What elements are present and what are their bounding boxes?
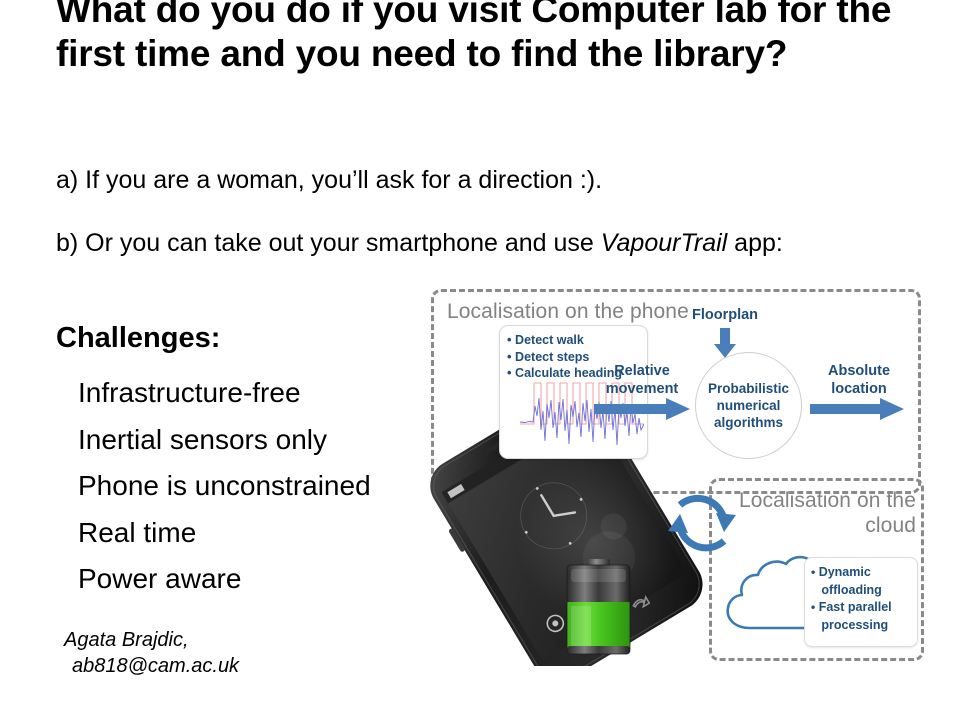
slide-canvas: What do you do if you visit Computer lab…	[0, 0, 960, 720]
author-email: ab818@cam.ac.uk	[72, 653, 239, 679]
list-item: Real time	[78, 510, 371, 557]
localisation-on-phone-label: Localisation on the phone	[447, 299, 689, 324]
node-label-line2: numerical	[717, 398, 781, 413]
answer-b-suffix: app:	[727, 229, 783, 257]
bullet-dot-icon: •	[507, 349, 512, 364]
localisation-on-cloud-label: Localisation on the cloud	[726, 488, 916, 538]
relative-movement-label: Relativemovement	[594, 362, 690, 398]
author-block: Agata Brajdic, ab818@cam.ac.uk	[64, 627, 239, 679]
page-title: What do you do if you visit Computer lab…	[56, 0, 916, 76]
list-item-label: processing	[821, 618, 888, 632]
vapourtrail-architecture-diagram: Localisation on the phone Localisation o…	[414, 276, 960, 676]
bullet-dot-icon: •	[507, 332, 512, 347]
cloud-features-card: • Dynamic offloading • Fast parallel pro…	[804, 557, 918, 647]
app-name: VapourTrail	[601, 229, 727, 257]
list-item: • Dynamic	[811, 564, 892, 582]
node-label-line3: algorithms	[714, 415, 783, 430]
list-item-continuation: processing	[811, 617, 892, 635]
battery-icon	[561, 558, 636, 658]
relative-movement-line1: Relative	[614, 363, 670, 379]
list-item-label: Fast parallel	[819, 600, 892, 614]
author-name: Agata Brajdic,	[64, 629, 189, 651]
list-item-label: offloading	[821, 583, 881, 597]
arrow-right-icon	[594, 398, 690, 420]
list-item-label: Dynamic	[819, 565, 871, 579]
arrow-right-icon	[810, 398, 904, 420]
bullet-dot-icon: •	[811, 600, 815, 614]
challenges-list: Infrastructure-free Inertial sensors onl…	[78, 370, 371, 603]
list-item: • Fast parallel	[811, 599, 892, 617]
list-item: Infrastructure-free	[78, 370, 371, 417]
absolute-location-line1: Absolute	[828, 363, 890, 379]
list-item-label: Detect steps	[515, 350, 589, 364]
bullet-dot-icon: •	[811, 565, 815, 579]
answer-b-prefix: b) Or you can take out your smartphone a…	[56, 229, 601, 257]
probabilistic-algorithms-node: Probabilisticnumericalalgorithms	[695, 352, 802, 459]
answer-b-text: b) Or you can take out your smartphone a…	[56, 228, 936, 258]
bullet-dot-icon: •	[507, 365, 512, 380]
answer-a-text: a) If you are a woman, you’ll ask for a …	[56, 165, 936, 195]
list-item-continuation: offloading	[811, 582, 892, 600]
list-item: • Detect walk	[507, 332, 622, 349]
absolute-location-line2: location	[831, 381, 887, 397]
list-item: Power aware	[78, 556, 371, 603]
node-label-line1: Probabilistic	[708, 381, 789, 396]
list-item: Inertial sensors only	[78, 417, 371, 464]
list-item: Phone is unconstrained	[78, 463, 371, 510]
floorplan-label: Floorplan	[670, 306, 780, 324]
relative-movement-line2: movement	[606, 381, 679, 397]
challenges-heading: Challenges:	[56, 322, 220, 355]
node-label: Probabilisticnumericalalgorithms	[708, 380, 789, 431]
list-item-label: Detect walk	[515, 333, 584, 347]
cloud-features-list: • Dynamic offloading • Fast parallel pro…	[811, 564, 892, 634]
absolute-location-label: Absolutelocation	[809, 362, 909, 398]
